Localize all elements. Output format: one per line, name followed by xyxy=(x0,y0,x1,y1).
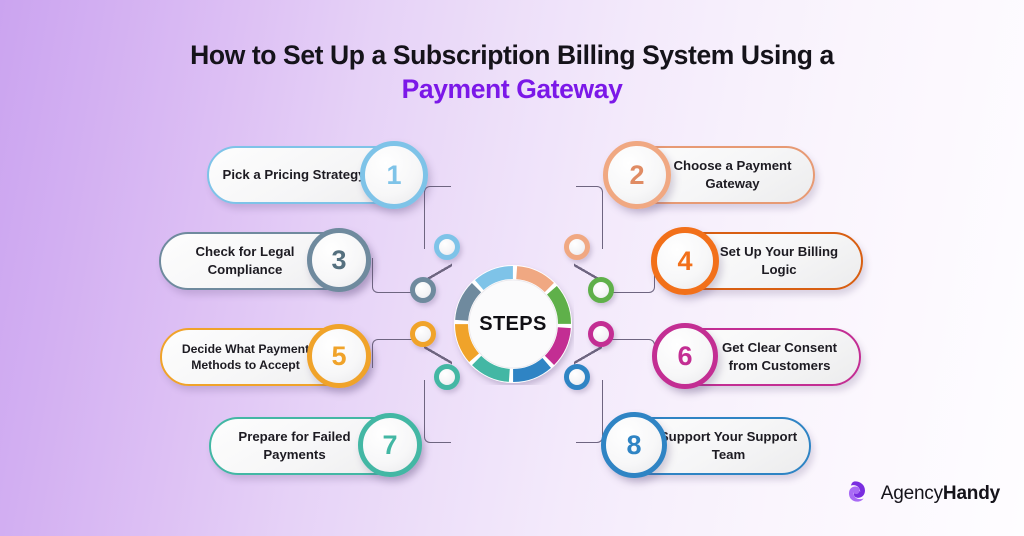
connector-dot-step-3 xyxy=(410,277,436,303)
connector-dot-step-2 xyxy=(564,234,590,260)
wire-step-5 xyxy=(372,339,417,368)
step-number-6: 6 xyxy=(652,323,718,389)
connector-dot-step-7 xyxy=(434,364,460,390)
brand-logo: AgencyHandy xyxy=(846,478,1000,510)
step-number-2: 2 xyxy=(603,141,671,209)
brand-logo-text: AgencyHandy xyxy=(881,483,1000,505)
connector-dot-step-6 xyxy=(588,321,614,347)
step-number-1: 1 xyxy=(360,141,428,209)
title-line-primary: How to Set Up a Subscription Billing Sys… xyxy=(0,38,1024,72)
infographic-canvas: How to Set Up a Subscription Billing Sys… xyxy=(0,0,1024,536)
step-number-5: 5 xyxy=(307,324,371,388)
wire-step-6 xyxy=(610,339,655,368)
step-number-8: 8 xyxy=(601,412,667,478)
wire-step-4 xyxy=(610,258,655,293)
title-line-accent: Payment Gateway xyxy=(0,72,1024,108)
connector-dot-step-8 xyxy=(564,364,590,390)
center-steps-donut: STEPS xyxy=(452,263,574,385)
step-number-7: 7 xyxy=(358,413,422,477)
page-title: How to Set Up a Subscription Billing Sys… xyxy=(0,38,1024,108)
agencyhandy-mark-icon xyxy=(846,478,873,510)
connector-dot-step-1 xyxy=(434,234,460,260)
connector-dot-step-5 xyxy=(410,321,436,347)
step-number-3: 3 xyxy=(307,228,371,292)
brand-name-bold: Handy xyxy=(943,483,1000,504)
brand-name-light: Agency xyxy=(881,483,943,504)
connector-dot-step-4 xyxy=(588,277,614,303)
step-number-4: 4 xyxy=(651,227,719,295)
